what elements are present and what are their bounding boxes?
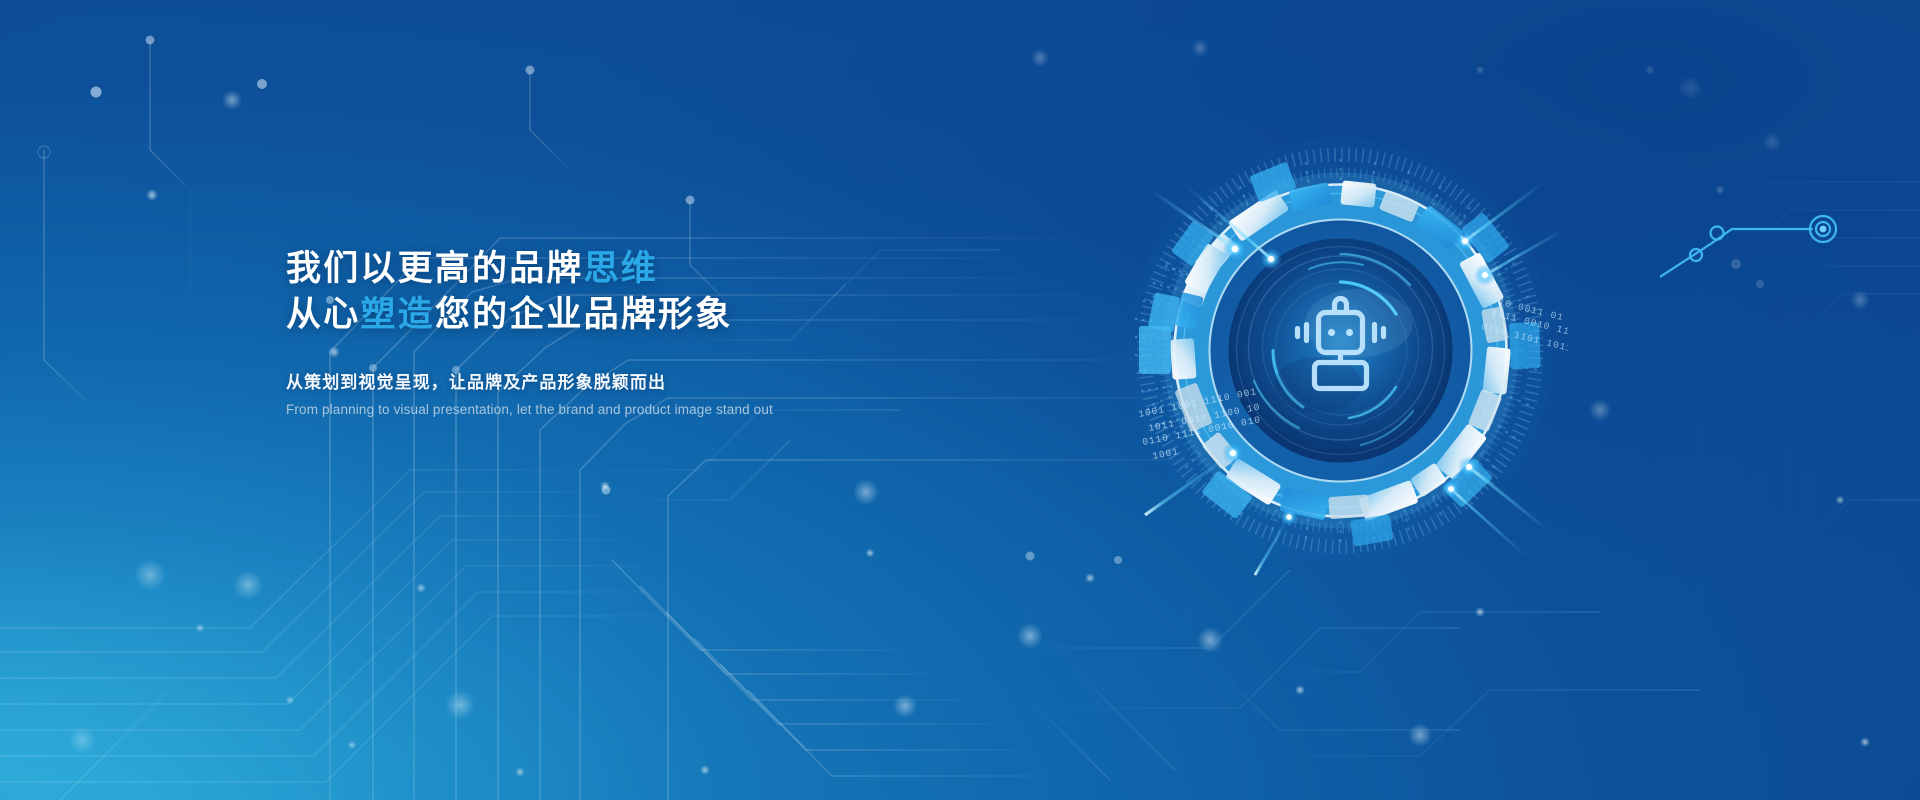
subtitle-english: From planning to visual presentation, le… bbox=[286, 402, 1186, 417]
svg-text:1001: 1001 bbox=[1151, 446, 1179, 462]
trace-group-lower-left-fan bbox=[0, 470, 680, 800]
trace-group-center-lower bbox=[1000, 556, 1700, 780]
subtitle-chinese: 从策划到视觉呈现，让品牌及产品形象脱颖而出 bbox=[286, 368, 1186, 393]
headline-line-1: 我们以更高的品牌思维 bbox=[286, 246, 1186, 292]
headline-line1-text: 我们以更高的品牌 bbox=[286, 249, 584, 288]
headline-line-2: 从心塑造您的企业品牌形象 bbox=[286, 292, 1186, 338]
connector-node-graphic bbox=[1660, 195, 1910, 285]
hero-copy-block: 我们以更高的品牌思维 从心塑造您的企业品牌形象 从策划到视觉呈现，让品牌及产品形… bbox=[286, 246, 1186, 417]
headline-line2-text-a: 从心 bbox=[286, 295, 360, 334]
trace-group-lower-mid-fan bbox=[612, 560, 1050, 776]
headline-line2-text-b: 您的企业品牌形象 bbox=[435, 295, 733, 334]
hero-banner: 1001 1001 1110 001 1011 0010 1100 10 011… bbox=[0, 0, 1920, 800]
headline-line1-accent: 思维 bbox=[584, 249, 658, 288]
headline-line2-accent: 塑造 bbox=[360, 295, 434, 334]
